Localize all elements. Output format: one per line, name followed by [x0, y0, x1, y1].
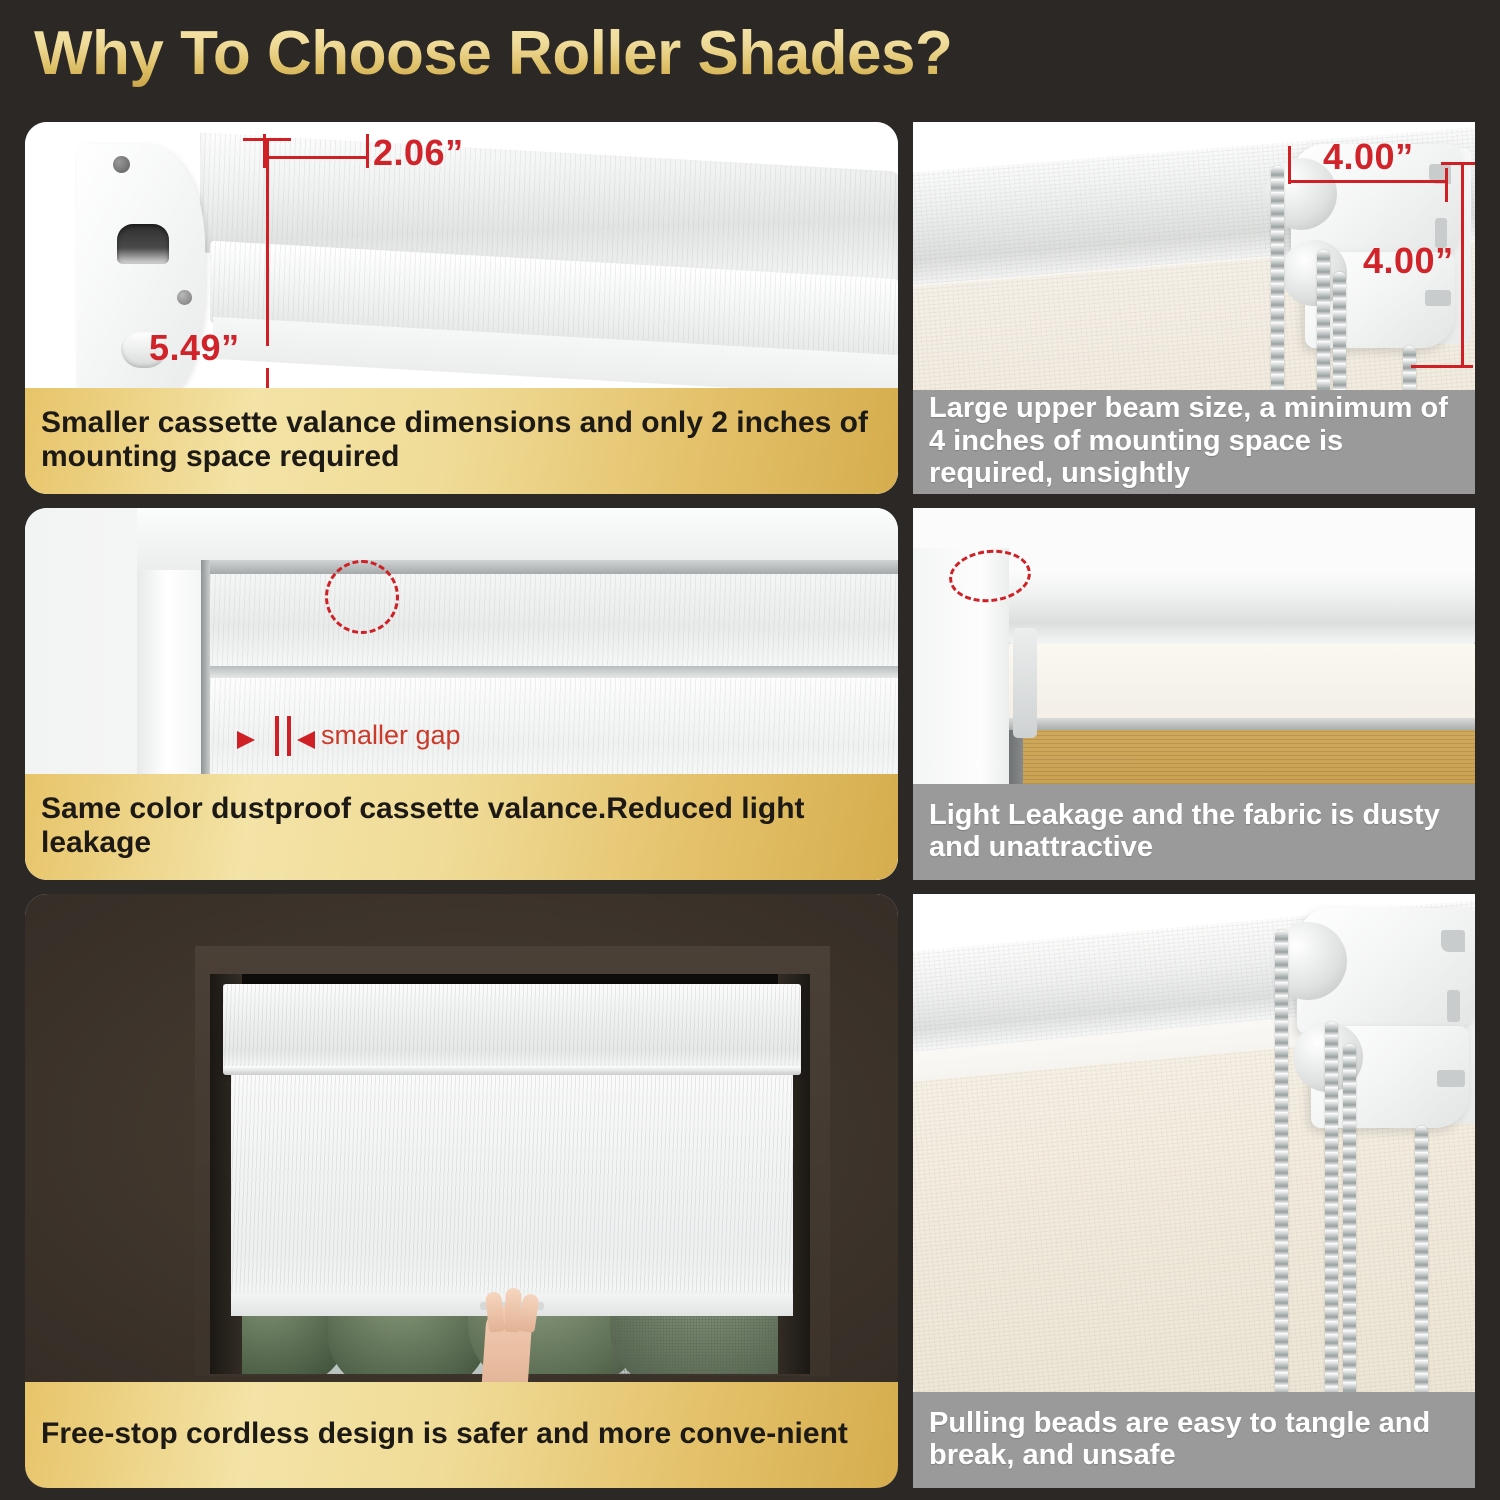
caption-bar-panel-5: Free-stop cordless design is safer and m…: [25, 1382, 898, 1488]
panel-dustproof-valance: smaller gap Same color dustproof cassett…: [25, 508, 898, 880]
highlight-circle-gap: [325, 560, 399, 634]
dim-w-tick-left: [1288, 146, 1291, 184]
caption-text-panel-3: Same color dustproof cassette valance.Re…: [41, 792, 882, 859]
gap-bar-right: [287, 716, 291, 756]
dim-h-line: [1461, 162, 1464, 367]
dim-width-line: [263, 156, 369, 159]
dim-height-line-top: [266, 138, 269, 346]
dimension-label-height: 5.49”: [149, 327, 240, 369]
caption-text-panel-1: Smaller cassette valance dimensions and …: [41, 406, 882, 473]
gap-label-smaller: smaller gap: [321, 720, 461, 751]
dimension-label-height: 4.00”: [1363, 240, 1454, 282]
panel-light-leakage: Large gap Light Leakage and the fabric i…: [913, 508, 1475, 880]
caption-bar-panel-6: Pulling beads are easy to tangle and bre…: [913, 1392, 1475, 1488]
caption-text-panel-2: Large upper beam size, a minimum of 4 in…: [929, 392, 1459, 489]
dim-h-tick-top: [1441, 162, 1475, 165]
panel-large-upper-beam: 4.00” 4.00” Large upper beam size, a min…: [913, 122, 1475, 494]
panel-cordless-design: Free-stop cordless design is safer and m…: [25, 894, 898, 1488]
caption-bar-panel-1: Smaller cassette valance dimensions and …: [25, 388, 898, 494]
gap-arrow-right: [237, 731, 255, 749]
dimension-label-width: 2.06”: [373, 132, 464, 174]
caption-text-panel-6: Pulling beads are easy to tangle and bre…: [929, 1407, 1459, 1472]
gap-arrow-left: [297, 731, 315, 749]
panel-pulling-beads: Pulling beads are easy to tangle and bre…: [913, 894, 1475, 1488]
comparison-grid: 2.06” 5.49” Smaller cassette valance dim…: [0, 110, 1500, 1500]
caption-bar-panel-2: Large upper beam size, a minimum of 4 in…: [913, 390, 1475, 494]
gap-bar-left: [275, 716, 279, 756]
dim-width-tick-right: [366, 134, 369, 168]
dim-w-tick-right: [1445, 168, 1448, 202]
panel-smaller-cassette: 2.06” 5.49” Smaller cassette valance dim…: [25, 122, 898, 494]
caption-text-panel-4: Light Leakage and the fabric is dusty an…: [929, 799, 1459, 864]
dim-h-tick-bottom: [1411, 365, 1473, 368]
dim-w-line: [1288, 180, 1448, 183]
page-title: Why To Choose Roller Shades?: [34, 18, 1234, 89]
caption-bar-panel-3: Same color dustproof cassette valance.Re…: [25, 774, 898, 880]
dimension-label-width: 4.00”: [1323, 136, 1414, 178]
caption-bar-panel-4: Light Leakage and the fabric is dusty an…: [913, 784, 1475, 880]
caption-text-panel-5: Free-stop cordless design is safer and m…: [41, 1417, 848, 1451]
page-title-bar: Why To Choose Roller Shades?: [34, 18, 1234, 98]
